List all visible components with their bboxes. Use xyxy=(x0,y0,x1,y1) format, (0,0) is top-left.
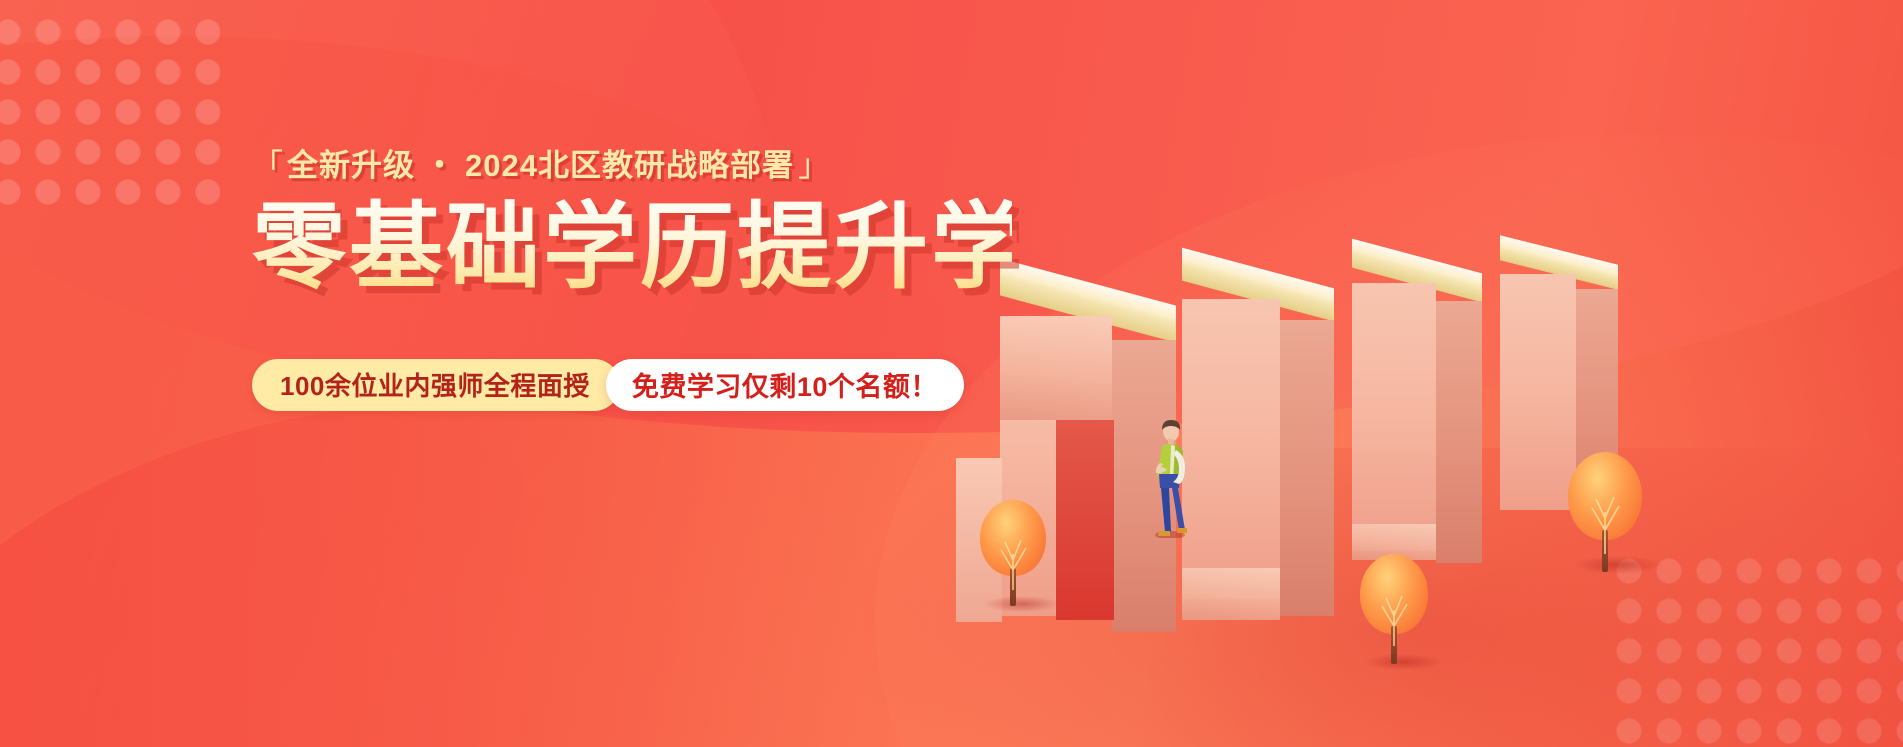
autumn-tree-right xyxy=(1568,452,1648,580)
banner-copy: 「 全新升级 ・ 2024北区教研战略部署 」 零基础学历提升学霸班 100余位… xyxy=(252,150,1012,411)
bracket-open: 「 xyxy=(252,150,284,181)
status-badge-instructors: 100余位业内强师全程面授 xyxy=(252,359,620,411)
autumn-tree-left xyxy=(980,500,1050,616)
autumn-tree-bottom xyxy=(1360,554,1432,674)
tree-branches-icon xyxy=(1360,566,1428,658)
dot-grid-top-left-icon xyxy=(0,12,220,212)
student-figure xyxy=(1146,418,1194,538)
badge-row: 100余位业内强师全程面授 免费学习仅剩10个名额！ xyxy=(252,359,1012,411)
page-title: 零基础学历提升学霸班 xyxy=(252,198,1012,296)
eyebrow-subtitle: 「 全新升级 ・ 2024北区教研战略部署 」 xyxy=(252,150,1012,181)
archway-opening xyxy=(1056,420,1114,620)
eyebrow-part-one: 全新升级 xyxy=(287,150,415,181)
bracket-close: 」 xyxy=(798,150,830,181)
illustration-book-archway xyxy=(960,0,1903,747)
promo-banner: 「 全新升级 ・ 2024北区教研战略部署 」 零基础学历提升学霸班 100余位… xyxy=(0,0,1903,747)
eyebrow-separator-icon: ・ xyxy=(415,150,465,181)
tree-branches-icon xyxy=(980,512,1046,602)
eyebrow-part-two: 2024北区教研战略部署 xyxy=(465,150,794,181)
status-badge-seats-left: 免费学习仅剩10个名额！ xyxy=(606,359,964,411)
student-figure-icon xyxy=(1146,418,1194,538)
tree-branches-icon xyxy=(1568,466,1642,566)
